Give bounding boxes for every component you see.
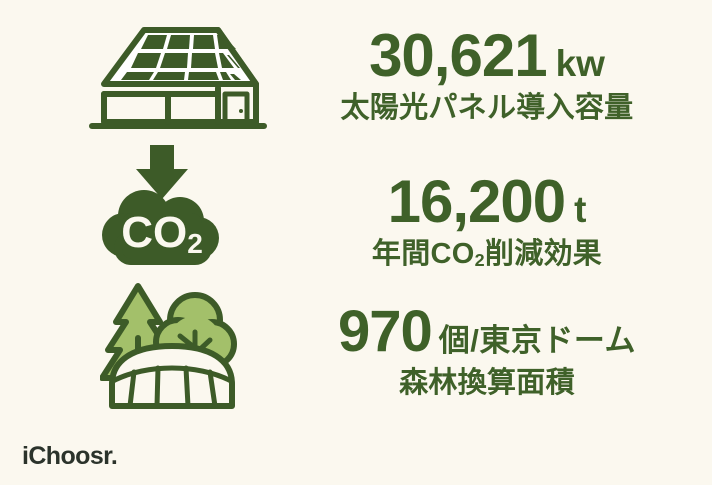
stat-caption: 太陽光パネル導入容量 <box>285 92 689 125</box>
stat-block-forest-area: 970個/東京ドーム 森林換算面積 <box>285 303 689 400</box>
stat-figure: 970個/東京ドーム <box>285 303 689 361</box>
stat-value: 30,621 <box>369 22 547 89</box>
stat-value: 16,200 <box>388 168 566 235</box>
stat-caption-prefix: 年間CO <box>372 238 475 270</box>
stat-unit: kw <box>556 43 605 84</box>
stat-unit: 個/東京ドーム <box>439 323 636 358</box>
forest-tokyo-dome-icon <box>100 280 245 415</box>
stat-value: 970 <box>338 299 432 364</box>
solar-panel-house-icon <box>68 22 268 140</box>
icon-column: CO2 <box>0 0 285 430</box>
stats-column: 30,621kw 太陽光パネル導入容量 16,200t 年間CO2削減効果 97… <box>285 0 712 430</box>
stat-caption-suffix: 削減効果 <box>485 238 602 270</box>
brand-logo: iChoosr. <box>22 444 117 469</box>
stat-caption: 年間CO2削減効果 <box>285 238 689 271</box>
stat-figure: 16,200t <box>285 172 689 232</box>
stat-caption: 森林換算面積 <box>285 367 689 400</box>
stat-block-co2-reduction: 16,200t 年間CO2削減効果 <box>285 172 689 271</box>
stat-block-solar-capacity: 30,621kw 太陽光パネル導入容量 <box>285 26 689 125</box>
stat-caption-subscript: 2 <box>475 250 485 270</box>
stat-figure: 30,621kw <box>285 26 689 86</box>
co2-cloud-down-arrow-icon: CO2 <box>92 143 232 275</box>
stat-unit: t <box>574 189 586 230</box>
stadium-dome-shape <box>112 346 232 406</box>
infographic-canvas: CO2 <box>0 0 712 485</box>
